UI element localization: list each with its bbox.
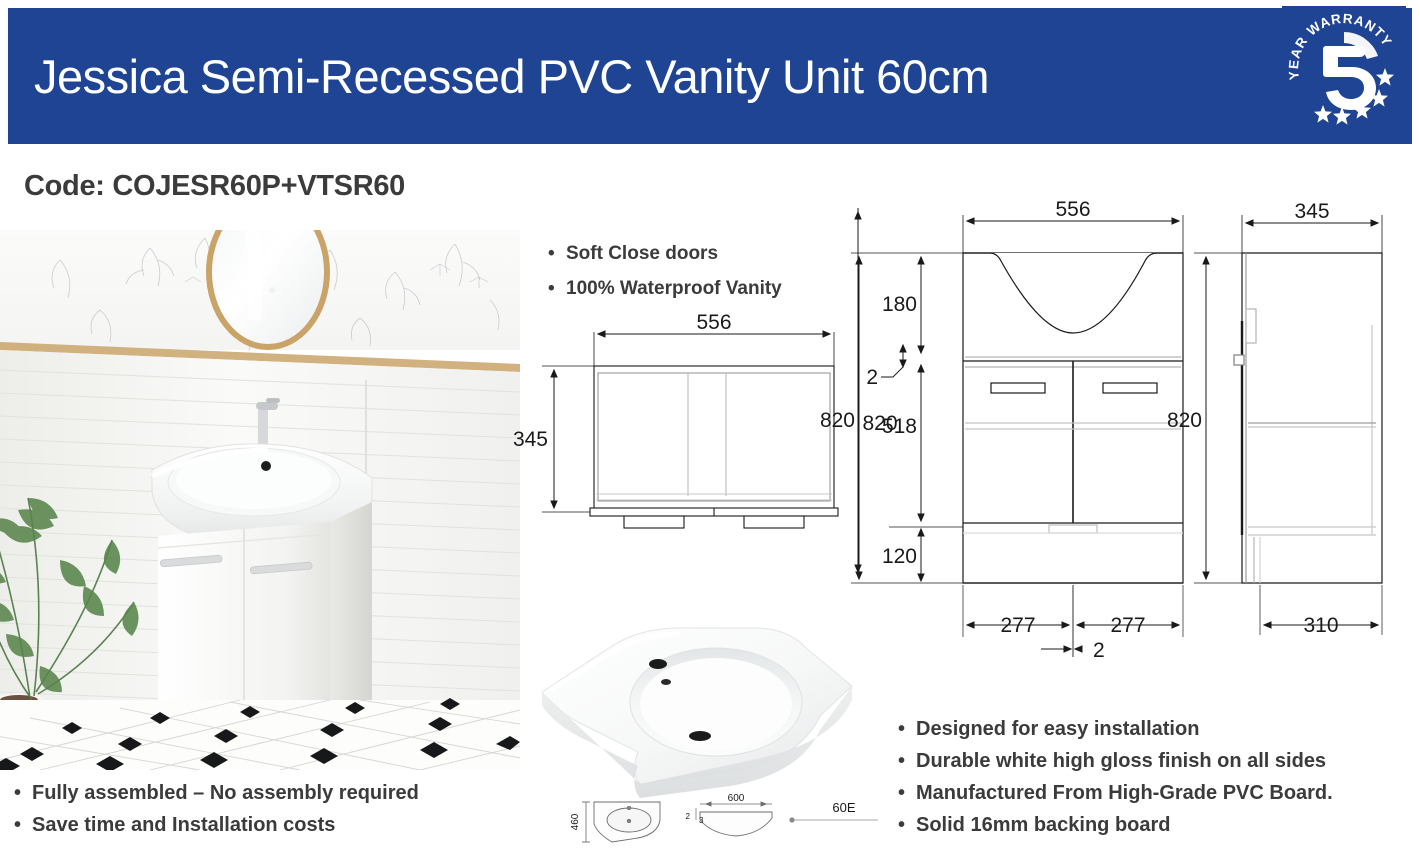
basin-model-code: 60E: [832, 800, 855, 815]
side-depth-dim: 345: [1294, 200, 1329, 223]
list-item: • Fully assembled – No assembly required: [14, 782, 419, 805]
bullet-text: Solid 16mm backing board: [916, 814, 1171, 837]
list-item: • Solid 16mm backing board: [898, 814, 1333, 837]
front-total-height-dim: 820: [820, 409, 855, 432]
front-door-left-dim: 277: [1000, 614, 1035, 637]
product-code: Code: COJESR60P+VTSR60: [24, 170, 405, 203]
list-item: • Durable white high gloss finish on all…: [898, 750, 1333, 773]
bullet-dot-icon: •: [548, 243, 566, 265]
header-banner: Jessica Semi-Recessed PVC Vanity Unit 60…: [8, 8, 1412, 144]
cabinet-side-elevation: 345 820 310: [1180, 205, 1420, 665]
cabinet-plan-view: 556 345 820: [528, 318, 888, 580]
list-item: • Save time and Installation costs: [14, 814, 419, 837]
bullet-text: Soft Close doors: [566, 243, 718, 265]
front-door-right-dim: 277: [1110, 614, 1145, 637]
basin-plan-depth-dim: 460: [570, 813, 581, 830]
cabinet-front-elevation: 556 820 180 2 5: [845, 205, 1205, 665]
list-item: • 100% Waterproof Vanity: [548, 278, 782, 300]
front-top-panel-dim: 180: [882, 293, 917, 316]
basin-dimension-drawings: 460 600 2 3 60E: [560, 790, 890, 860]
front-door-height-dim: 518: [882, 415, 917, 438]
front-gap-dim: 2: [866, 366, 878, 389]
side-base-depth-dim: 310: [1303, 614, 1338, 637]
feature-bullet-list: • Soft Close doors • 100% Waterproof Van…: [548, 243, 782, 313]
bullet-dot-icon: •: [898, 814, 916, 837]
bullet-text: Durable white high gloss finish on all s…: [916, 750, 1326, 773]
basin-front-width-dim: 600: [728, 793, 745, 804]
plan-depth-dim: 345: [513, 428, 548, 451]
5-year-warranty-badge: YEAR WARRANTY: [1282, 6, 1406, 130]
bullet-dot-icon: •: [898, 782, 916, 805]
bullet-text: Designed for easy installation: [916, 718, 1199, 741]
list-item: • Soft Close doors: [548, 243, 782, 265]
bathroom-room-scene-photo: [0, 230, 520, 770]
page-title: Jessica Semi-Recessed PVC Vanity Unit 60…: [34, 53, 989, 100]
left-bottom-bullet-list: • Fully assembled – No assembly required…: [14, 782, 419, 846]
bullet-text: Save time and Installation costs: [32, 814, 335, 837]
basin-front-left-mark: 2: [686, 812, 691, 821]
front-plinth-dim: 120: [882, 545, 917, 568]
list-item: • Designed for easy installation: [898, 718, 1333, 741]
right-bottom-bullet-list: • Designed for easy installation • Durab…: [898, 718, 1333, 846]
basin-front-right-mark: 3: [699, 816, 704, 825]
bullet-dot-icon: •: [14, 814, 32, 837]
list-item: • Manufactured From High-Grade PVC Board…: [898, 782, 1333, 805]
bullet-dot-icon: •: [14, 782, 32, 805]
front-door-gap-dim: 2: [1093, 639, 1105, 662]
semi-recessed-basin-photo: [520, 620, 880, 800]
front-width-dim: 556: [1055, 198, 1090, 221]
side-height-dim: 820: [1167, 409, 1202, 432]
bullet-dot-icon: •: [548, 278, 566, 300]
bullet-text: Manufactured From High-Grade PVC Board.: [916, 782, 1333, 805]
bullet-dot-icon: •: [898, 750, 916, 773]
bullet-text: Fully assembled – No assembly required: [32, 782, 419, 805]
bullet-text: 100% Waterproof Vanity: [566, 278, 782, 300]
plan-width-dim: 556: [696, 311, 731, 334]
bullet-dot-icon: •: [898, 718, 916, 741]
